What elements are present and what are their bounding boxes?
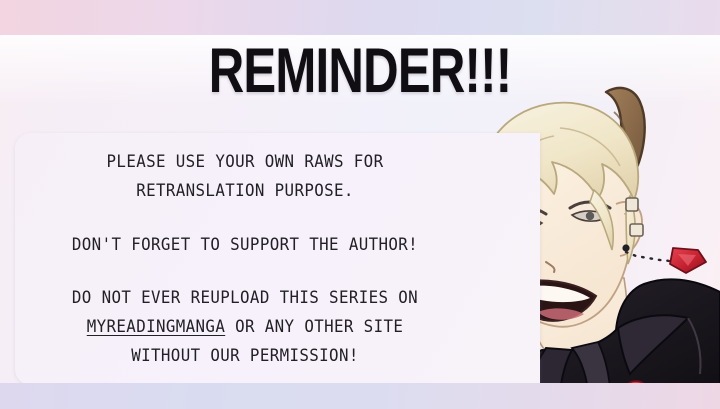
notice-paragraph-2: DON'T FORGET TO SUPPORT THE AUTHOR! <box>31 231 459 260</box>
myreadingmanga-link[interactable]: MYREADINGMANGA <box>87 317 225 337</box>
notice-p1-line2: RETRANSLATION PURPOSE. <box>31 177 459 206</box>
notice-text-block: PLEASE USE YOUR OWN RAWS FOR RETRANSLATI… <box>31 148 459 371</box>
notice-paragraph-1: PLEASE USE YOUR OWN RAWS FOR RETRANSLATI… <box>31 148 459 206</box>
notice-p3-line1: DO NOT EVER REUPLOAD THIS SERIES ON <box>31 284 459 313</box>
right-pupil <box>586 212 594 220</box>
notice-paragraph-3: DO NOT EVER REUPLOAD THIS SERIES ON MYRE… <box>31 284 459 371</box>
notice-p3-line3: WITHOUT OUR PERMISSION! <box>31 342 459 371</box>
notice-card: PLEASE USE YOUR OWN RAWS FOR RETRANSLATI… <box>15 133 540 385</box>
notice-p3-line2: MYREADINGMANGA OR ANY OTHER SITE <box>31 313 459 342</box>
spacer <box>31 206 459 231</box>
notice-p2-line1: DON'T FORGET TO SUPPORT THE AUTHOR! <box>31 231 459 260</box>
reminder-banner: REMINDER!!! <box>0 0 720 409</box>
spacer <box>31 260 459 284</box>
notice-p1-line1: PLEASE USE YOUR OWN RAWS FOR <box>31 148 459 177</box>
notice-p3-line2-suffix: OR ANY OTHER SITE <box>225 317 403 337</box>
top-gradient-band <box>0 0 720 36</box>
bottom-gradient-band <box>0 383 720 409</box>
red-gem-pendant-icon <box>626 248 706 273</box>
